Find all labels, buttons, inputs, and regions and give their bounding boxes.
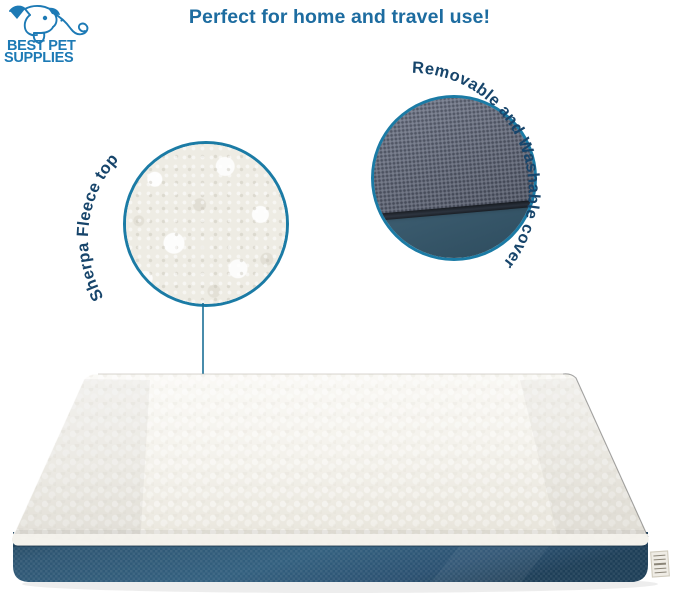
care-label-tag bbox=[650, 550, 670, 577]
page-headline: Perfect for home and travel use! bbox=[0, 6, 679, 29]
callout-removable-washable-cover: Removable and Washable cover bbox=[371, 95, 537, 261]
callout-sherpa-fleece-top: Sherpa Fleece top bbox=[123, 141, 289, 307]
sherpa-fleece-swatch bbox=[123, 141, 289, 307]
zippered-cover-swatch bbox=[371, 95, 537, 261]
product-infographic: BEST PET SUPPLIES Perfect for home and t… bbox=[0, 0, 679, 593]
callout-left-text: Sherpa Fleece top bbox=[74, 150, 122, 304]
svg-text:SUPPLIES: SUPPLIES bbox=[4, 50, 74, 64]
product-dog-bed bbox=[0, 360, 679, 593]
